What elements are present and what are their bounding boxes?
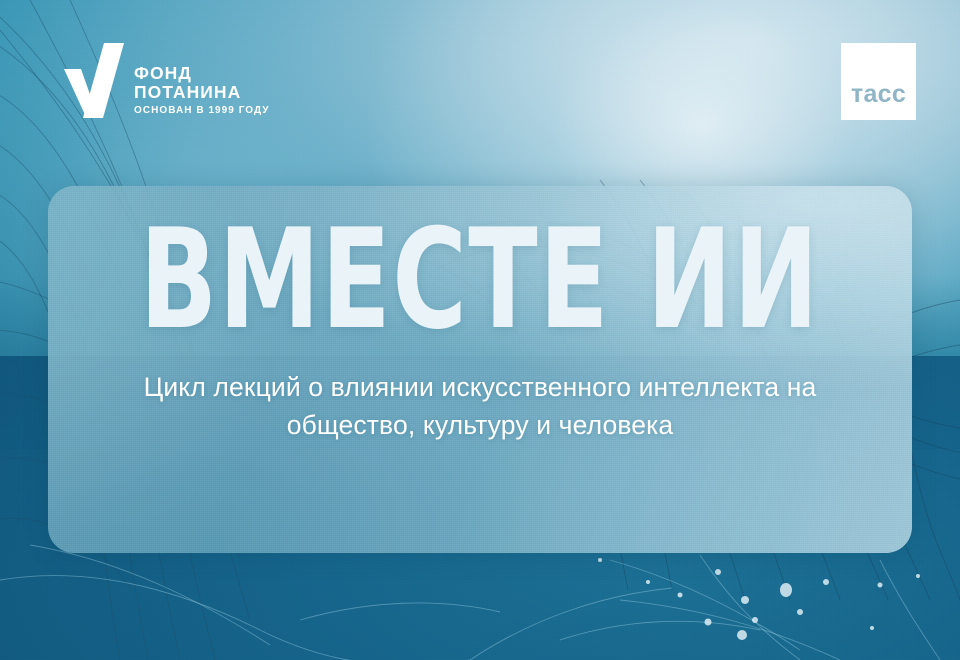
content-card: ВМЕСТЕ ИИ Цикл лекций о влиянии искусств…	[48, 186, 912, 553]
poster-canvas: ФОНД ПОТАНИНА ОСНОВАН В 1999 ГОДУ тасс В…	[0, 0, 960, 660]
page-title: ВМЕСТЕ ИИ	[140, 218, 820, 342]
tass-logo-icon: тасс	[841, 43, 916, 120]
brand-line-fond: ФОНД	[134, 64, 270, 82]
potanin-foundation-logo: ФОНД ПОТАНИНА ОСНОВАН В 1999 ГОДУ	[62, 40, 270, 118]
tass-logo-wordmark: тасс	[851, 82, 906, 120]
potanin-v-checkmark-icon	[62, 40, 124, 118]
brand-line-potanina: ПОТАНИНА	[134, 83, 270, 101]
brand-line-founded: ОСНОВАН В 1999 ГОДУ	[134, 105, 270, 117]
page-subtitle: Цикл лекций о влиянии искусственного инт…	[100, 368, 860, 444]
